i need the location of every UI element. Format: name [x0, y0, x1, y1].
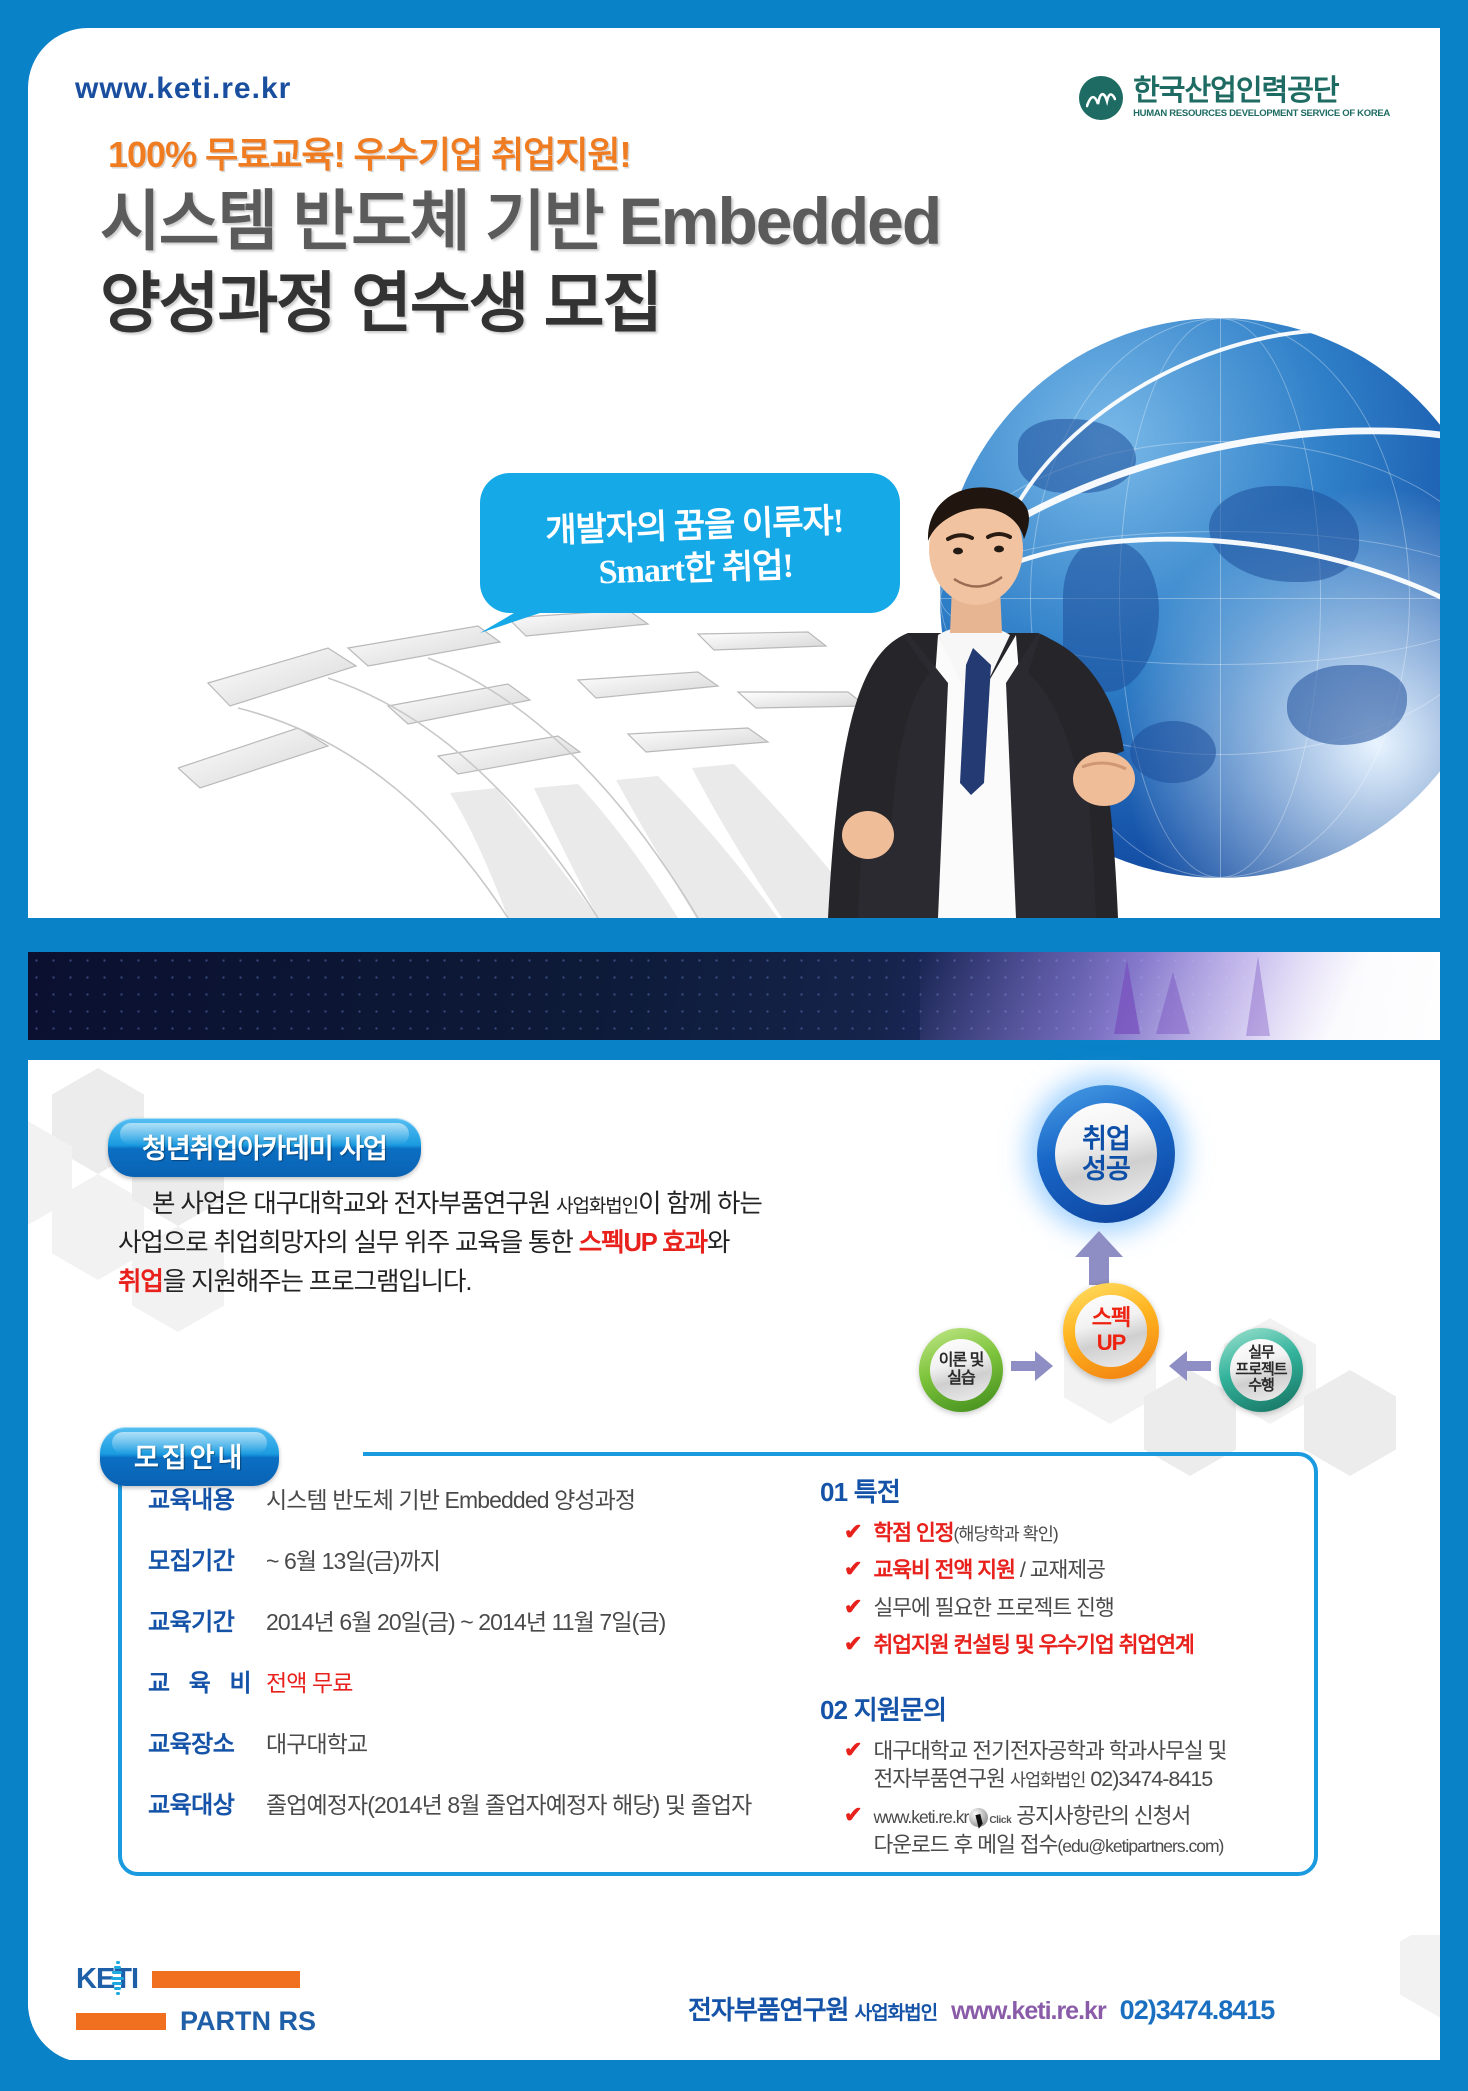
orb-project-line2: 프로젝트 — [1235, 1361, 1286, 1378]
benefit-gray-text: / 교재제공 — [1015, 1558, 1105, 1582]
click-label: Click — [989, 1815, 1011, 1826]
hrd-name-english: HUMAN RESOURCES DEVELOPMENT SERVICE OF K… — [1133, 109, 1390, 119]
check-icon: ✔ — [844, 1556, 862, 1584]
poster-root: www.keti.re.kr 한국산업인력공단 HUMAN RESOURCES … — [0, 0, 1468, 2091]
inquiry-dept: 대구대학교 전기전자공학과 학과사무실 및 — [873, 1739, 1226, 1763]
desc-line2-a: 사업으로 취업희망자의 실무 위주 교육을 통한 — [118, 1229, 579, 1257]
arrow-up-icon — [1075, 1231, 1123, 1285]
footer-telephone[interactable]: 02)3474.8415 — [1120, 1995, 1275, 2026]
check-icon: ✔ — [844, 1631, 862, 1659]
row-value: 시스템 반도체 기반 Embedded 양성과정 — [266, 1481, 635, 1515]
arrow-right-icon — [1011, 1351, 1053, 1381]
hrd-name-korean: 한국산업인력공단 — [1133, 77, 1390, 106]
table-row: 교육기간 2014년 6월 20일(금) ~ 2014년 11월 7일(금) — [148, 1602, 788, 1637]
footer-contact: 전자부품연구원 사업화법인 www.keti.re.kr 02)3474.841… — [688, 1990, 1274, 2027]
recruit-section-pill: 모집안내 — [100, 1427, 279, 1486]
row-label: 교육대상 — [148, 1785, 266, 1820]
hero-title-line-2: 양성과정 연수생 모집 — [100, 250, 661, 346]
speech-bubble-text: 개발자의 꿈을 이루자! Smart한 취업! — [499, 499, 892, 598]
list-item: ✔ www.keti.re.krClick 공지사항란의 신청서 다운로드 후 … — [820, 1802, 1320, 1859]
academy-section-pill: 청년취업아카데미 사업 — [108, 1118, 421, 1177]
list-item: ✔ 교육비 전액 지원 / 교재제공 — [820, 1556, 1320, 1584]
keti-dots-icon — [112, 1961, 125, 1995]
orb-spec-line2: UP — [1097, 1330, 1126, 1355]
footer-org-note: 사업화법인 — [855, 2003, 937, 2024]
inquiry-phone: 02)3474-8415 — [1085, 1767, 1212, 1791]
inquiry-org: 전자부품연구원 — [873, 1767, 1009, 1791]
arrow-left-icon — [1169, 1351, 1211, 1381]
benefits-number: 01 — [820, 1477, 847, 1507]
partners-wordmark: PARTN RS — [180, 2006, 316, 2037]
inquiry-org-note: 사업화법인 — [1010, 1770, 1086, 1790]
orb-field-project: 실무 프로젝트 수행 — [1219, 1328, 1303, 1412]
orb-spec-line1: 스펙 — [1092, 1305, 1130, 1330]
row-value: 2014년 6월 20일(금) ~ 2014년 11월 7일(금) — [266, 1603, 665, 1637]
footer-org: 전자부품연구원 사업화법인 — [688, 1990, 937, 2027]
footer-org-name: 전자부품연구원 — [688, 1995, 855, 2025]
inquiry-email[interactable]: (edu@ketipartners.com) — [1057, 1836, 1223, 1856]
desc-line2-b: 와 — [707, 1229, 729, 1257]
bottom-blue-band — [28, 2060, 1440, 2091]
benefits-title: 특전 — [854, 1477, 900, 1507]
row-value: 대구대학교 — [266, 1725, 367, 1759]
check-icon: ✔ — [844, 1802, 862, 1859]
hrd-wave-glyph — [1086, 86, 1116, 110]
benefit-gray-text: 실무에 필요한 프로젝트 진행 — [873, 1594, 1113, 1622]
spec-up-diagram: 취업 성공 스펙 UP 이론 및 실습 — [915, 1085, 1335, 1405]
footer-website[interactable]: www.keti.re.kr — [951, 1997, 1106, 2026]
inquiry-website[interactable]: www.keti.re.kr — [873, 1807, 968, 1827]
orb-success-line1: 취업 — [1082, 1124, 1130, 1154]
check-icon: ✔ — [844, 1594, 862, 1622]
benefit-red-text: 취업지원 컨설팅 및 우수기업 취업연계 — [873, 1633, 1193, 1657]
desc-small-note: 사업화법인 — [556, 1196, 638, 1217]
row-value: 전액 무료 — [266, 1664, 353, 1698]
orb-project-line1: 실무 — [1248, 1344, 1274, 1361]
orb-spec-up: 스펙 UP — [1063, 1283, 1159, 1379]
list-item: ✔ 대구대학교 전기전자공학과 학과사무실 및 전자부품연구원 사업화법인 02… — [820, 1737, 1320, 1794]
footer-panel: KETI PARTN RS 전자부품연구원 사업화법인 www.keti.re.… — [28, 1935, 1440, 2063]
hrd-emblem-icon — [1079, 76, 1123, 120]
keti-wordmark: KETI — [76, 1963, 138, 1996]
inquiry-download-text: 다운로드 후 메일 접수 — [873, 1833, 1057, 1857]
orb-project-line3: 수행 — [1248, 1377, 1274, 1394]
desc-spec-up-highlight: 스펙UP 효과 — [579, 1229, 707, 1257]
orb-success-line2: 성공 — [1082, 1154, 1130, 1184]
benefits-and-inquiry: 01 특전 ✔ 학점 인정(해당학과 확인) ✔ 교육비 전액 지원 / 교재제… — [820, 1472, 1320, 1868]
table-row: 모집기간 ~ 6월 13일(금)까지 — [148, 1541, 788, 1576]
hrd-logo-text: 한국산업인력공단 HUMAN RESOURCES DEVELOPMENT SER… — [1133, 77, 1390, 119]
orb-theory-line1: 이론 및 — [939, 1352, 984, 1369]
top-website-url[interactable]: www.keti.re.kr — [75, 72, 291, 106]
check-icon: ✔ — [844, 1519, 862, 1547]
orb-employment-success: 취업 성공 — [1037, 1085, 1175, 1223]
desc-part-2: 이 함께 하는 — [638, 1190, 762, 1218]
hrd-korea-logo: 한국산업인력공단 HUMAN RESOURCES DEVELOPMENT SER… — [1079, 76, 1390, 120]
list-item: ✔ 학점 인정(해당학과 확인) — [820, 1519, 1320, 1547]
row-label: 교 육 비 — [148, 1663, 266, 1698]
arrow-ribbons-graphic — [178, 588, 878, 918]
academy-description: 본 사업은 대구대학교와 전자부품연구원 사업화법인이 함께 하는 사업으로 취… — [118, 1185, 838, 1301]
row-label: 모집기간 — [148, 1541, 266, 1576]
orb-theory-line2: 실습 — [947, 1370, 974, 1387]
table-row: 교 육 비 전액 무료 — [148, 1663, 788, 1698]
orb-theory-practice: 이론 및 실습 — [919, 1328, 1003, 1412]
inquiry-notice-text: 공지사항란의 신청서 — [1011, 1804, 1190, 1828]
cursor-click-icon — [969, 1808, 988, 1827]
inquiry-title: 지원문의 — [854, 1695, 946, 1725]
row-value: 졸업예정자(2014년 8월 졸업자예정자 해당) 및 졸업자 — [266, 1786, 751, 1820]
row-value: ~ 6월 13일(금)까지 — [266, 1542, 440, 1576]
benefit-note: (해당학과 확인) — [954, 1524, 1058, 1544]
digital-world-banner — [28, 952, 1440, 1040]
desc-line3: 을 지원해주는 프로그램입니다. — [163, 1268, 472, 1296]
row-label: 교육기간 — [148, 1602, 266, 1637]
table-row: 교육대상 졸업예정자(2014년 8월 졸업자예정자 해당) 및 졸업자 — [148, 1785, 788, 1820]
list-item: ✔ 실무에 필요한 프로젝트 진행 — [820, 1594, 1320, 1622]
desc-employment-highlight: 취업 — [118, 1268, 163, 1296]
benefits-heading: 01 특전 — [820, 1472, 1320, 1509]
keti-partners-logo: KETI PARTN RS — [76, 1963, 316, 2037]
recruit-info-table: 교육내용 시스템 반도체 기반 Embedded 양성과정 모집기간 ~ 6월 … — [148, 1480, 788, 1846]
hero-panel: www.keti.re.kr 한국산업인력공단 HUMAN RESOURCES … — [28, 28, 1440, 918]
inquiry-heading: 02 지원문의 — [820, 1690, 1320, 1727]
benefit-red-text: 교육비 전액 지원 — [873, 1558, 1014, 1582]
benefit-red-text: 학점 인정 — [873, 1521, 953, 1545]
table-row: 교육장소 대구대학교 — [148, 1724, 788, 1759]
desc-part-1: 본 사업은 대구대학교와 전자부품연구원 — [118, 1190, 556, 1218]
inquiry-number: 02 — [820, 1695, 847, 1725]
row-label: 교육장소 — [148, 1724, 266, 1759]
check-icon: ✔ — [844, 1737, 862, 1794]
list-item: ✔ 취업지원 컨설팅 및 우수기업 취업연계 — [820, 1631, 1320, 1659]
